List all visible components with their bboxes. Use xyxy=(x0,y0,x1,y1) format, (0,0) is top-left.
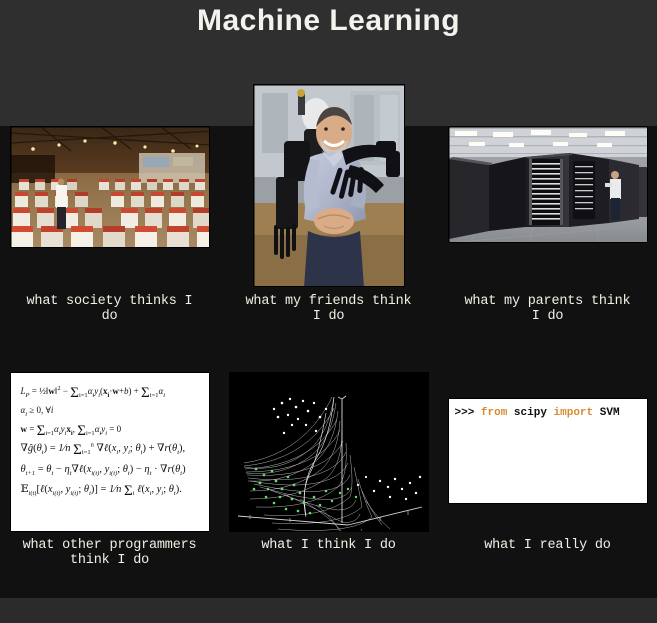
caption-what-i-think-i-do: what I think I do xyxy=(219,538,438,553)
panel-what-i-really-do: >>> from scipy import SVM what I really … xyxy=(438,352,657,598)
caption-what-my-friends-think-i-do: what my friends think I do xyxy=(219,294,438,324)
caption-what-other-programmers-think-i-do: what other programmers think I do xyxy=(0,538,219,568)
image-man-with-robot-arm xyxy=(253,84,405,287)
robot-photo-artwork xyxy=(254,85,405,287)
token-from-keyword: from xyxy=(481,407,514,419)
image-python-terminal: >>> from scipy import SVM xyxy=(448,398,648,504)
equation-sheet: LP = ½‖w‖2 − Σi=1αiyi(xi·w+b) + Σi=1αi α… xyxy=(11,373,209,506)
panel-grid: what society thinks I do xyxy=(0,126,657,598)
terminal-prompt: >>> xyxy=(455,407,481,419)
page-title: Machine Learning xyxy=(0,4,657,38)
datacenter-artwork xyxy=(449,127,648,243)
token-svm-name: SVM xyxy=(600,407,620,419)
meme-image: Machine Learning xyxy=(0,0,657,623)
caption-what-i-really-do: what I really do xyxy=(438,538,657,553)
token-import-keyword: import xyxy=(554,407,600,419)
equation-sgd-update: θt+1 = θt − ηt∇ℓ(xi(t), yi(t); θt) − ηt … xyxy=(21,460,201,480)
equation-w-expansion: w = Σi=1αiyixi, Σi=1αiyi = 0 xyxy=(21,421,201,440)
sewing-hall-artwork xyxy=(11,127,210,248)
equation-alpha-constraint: αi ≥ 0, ∀i xyxy=(21,402,201,421)
equation-expected-loss: 𝔼i(t)[ℓ(xi(t), yi(t); θt)] = 1⁄n Σi ℓ(xi… xyxy=(21,480,201,500)
caption-what-society-thinks-i-do: what society thinks I do xyxy=(0,294,219,324)
footer-band xyxy=(0,598,657,623)
open-rack-cabling xyxy=(529,159,563,225)
equation-primal-lagrangian: LP = ½‖w‖2 − Σi=1αiyi(xi·w+b) + Σi=1αi xyxy=(21,383,201,402)
terminal-line: >>> from scipy import SVM xyxy=(449,399,647,419)
image-svm-3d-surface xyxy=(229,372,429,532)
panel-what-society-thinks-i-do: what society thinks I do xyxy=(0,126,219,352)
panel-what-other-programmers-think-i-do: LP = ½‖w‖2 − Σi=1αiyi(xi·w+b) + Σi=1αi α… xyxy=(0,352,219,598)
equation-gradient-estimate: ∇ĝ(θt) = 1⁄n Σi=1n ∇ℓ(xi, yi; θt) + ∇r(θ… xyxy=(21,439,201,459)
svm-surface-plot xyxy=(230,373,429,532)
image-server-room xyxy=(448,126,648,243)
panel-what-my-friends-think-i-do: what my friends think I do xyxy=(219,126,438,352)
panel-what-my-parents-think-i-do: what my parents think I do xyxy=(438,126,657,352)
caption-what-my-parents-think-i-do: what my parents think I do xyxy=(438,294,657,324)
image-ml-equations: LP = ½‖w‖2 − Σi=1αiyi(xi·w+b) + Σi=1αi α… xyxy=(10,372,210,532)
standing-man xyxy=(56,178,67,229)
panel-what-i-think-i-do: what I think I do xyxy=(219,352,438,598)
token-scipy-module: scipy xyxy=(514,407,554,419)
image-sewing-machine-hall xyxy=(10,126,210,248)
